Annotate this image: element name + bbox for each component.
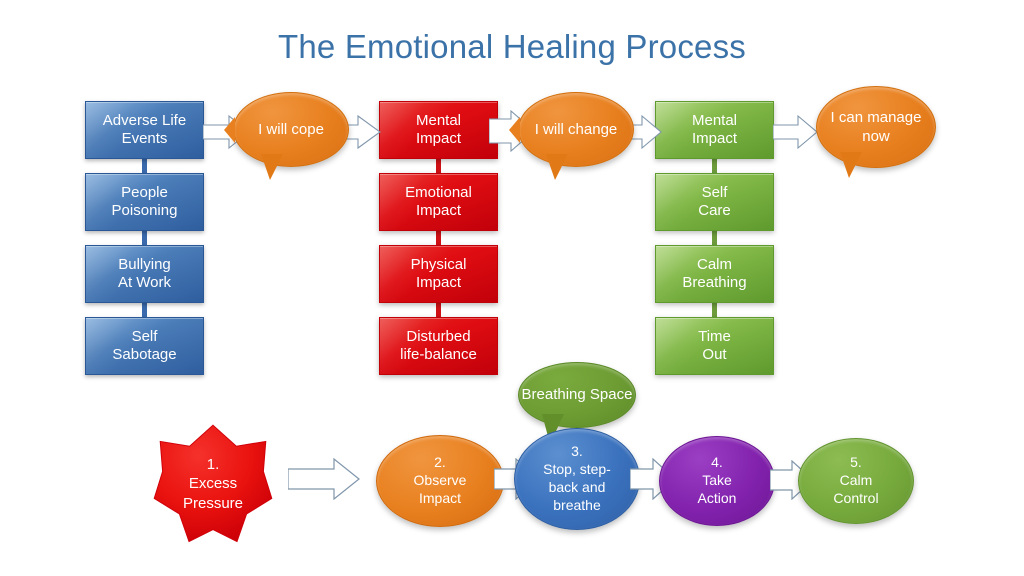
node-bullying-at-work[interactable]: Bullying At Work xyxy=(85,245,204,303)
node-label: Adverse Life Events xyxy=(86,112,203,149)
bubble-label: I will change xyxy=(535,120,618,140)
node-disturbed-life-balance[interactable]: Disturbed life-balance xyxy=(379,317,498,375)
bubble-notch xyxy=(509,117,520,143)
bubble-breathing-space[interactable]: Breathing Space xyxy=(518,362,636,428)
node-step-4-take-action[interactable]: 4.Take Action xyxy=(659,436,775,526)
bubble-tail xyxy=(840,152,862,178)
bubble-notch xyxy=(224,117,235,143)
bubble-i-can-manage-now[interactable]: I can manage now xyxy=(816,86,936,168)
node-label: 3.Stop, step- back and breathe xyxy=(543,443,611,515)
node-mental-impact[interactable]: Mental Impact xyxy=(379,101,498,159)
node-mental-impact-recovery[interactable]: Mental Impact xyxy=(655,101,774,159)
node-label: 1.Excess Pressure xyxy=(183,455,243,514)
node-label: Calm Breathing xyxy=(656,256,773,293)
node-emotional-impact[interactable]: Emotional Impact xyxy=(379,173,498,231)
node-label: Bullying At Work xyxy=(86,256,203,293)
node-step-5-calm-control[interactable]: 5.Calm Control xyxy=(798,438,914,524)
node-label: Self Sabotage xyxy=(86,328,203,365)
node-label: Self Care xyxy=(656,184,773,221)
page-title: The Emotional Healing Process xyxy=(0,28,1024,66)
bubble-label: I will cope xyxy=(258,120,324,140)
node-physical-impact[interactable]: Physical Impact xyxy=(379,245,498,303)
bubble-tail xyxy=(261,154,283,180)
node-label: 5.Calm Control xyxy=(833,454,878,508)
node-people-poisoning[interactable]: People Poisoning xyxy=(85,173,204,231)
bubble-body: I will change xyxy=(518,92,634,167)
arrow-recovery-to-manage xyxy=(773,112,819,152)
bubble-body: I can manage now xyxy=(816,86,936,168)
node-calm-breathing[interactable]: Calm Breathing xyxy=(655,245,774,303)
arrow-step1-to-step2 xyxy=(288,458,360,500)
bubble-i-will-change[interactable]: I will change xyxy=(518,92,634,167)
node-label: Disturbed life-balance xyxy=(380,328,497,365)
bubble-label: Breathing Space xyxy=(522,385,633,405)
node-label: 2.Observe Impact xyxy=(414,454,467,508)
node-step-3-stop-step-back-breathe[interactable]: 3.Stop, step- back and breathe xyxy=(514,428,640,530)
node-self-care[interactable]: Self Care xyxy=(655,173,774,231)
bubble-tail xyxy=(546,154,568,180)
node-time-out[interactable]: Time Out xyxy=(655,317,774,375)
node-self-sabotage[interactable]: Self Sabotage xyxy=(85,317,204,375)
bubble-body: Breathing Space xyxy=(518,362,636,428)
node-label: Emotional Impact xyxy=(380,184,497,221)
node-adverse-life-events[interactable]: Adverse Life Events xyxy=(85,101,204,159)
bubble-i-will-cope[interactable]: I will cope xyxy=(233,92,349,167)
node-label: Physical Impact xyxy=(380,256,497,293)
node-label: 4.Take Action xyxy=(698,454,737,508)
node-label: Mental Impact xyxy=(380,112,497,149)
node-label: Time Out xyxy=(656,328,773,365)
bubble-label: I can manage now xyxy=(817,108,935,147)
node-label: People Poisoning xyxy=(86,184,203,221)
node-step-1-excess-pressure[interactable]: 1.Excess Pressure xyxy=(148,424,278,544)
node-label: Mental Impact xyxy=(656,112,773,149)
bubble-body: I will cope xyxy=(233,92,349,167)
node-step-2-observe-impact[interactable]: 2.Observe Impact xyxy=(376,435,504,527)
diagram-canvas: The Emotional Healing Process Adverse Li… xyxy=(0,0,1024,576)
